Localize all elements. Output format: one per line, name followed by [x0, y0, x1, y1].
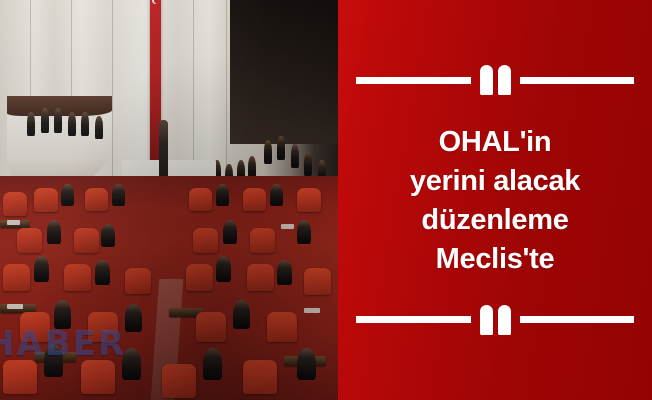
deputy-figure [34, 256, 49, 282]
seat [196, 312, 226, 342]
deputy-figure [264, 140, 272, 164]
seat [247, 264, 274, 291]
deputy-figure [277, 260, 292, 285]
seat [250, 228, 275, 253]
deputy-figure [125, 304, 142, 332]
deputy-figure [41, 108, 49, 133]
seat [81, 360, 115, 394]
parliament-photo: HABER [0, 0, 338, 400]
quote-decoration-top [356, 63, 634, 97]
seat [64, 264, 91, 291]
deputy-figure [216, 256, 231, 282]
seat [193, 228, 218, 253]
seat [297, 188, 321, 212]
deputy-figure [203, 348, 222, 380]
quote-open-icon [480, 65, 511, 95]
deputy-figure [68, 112, 76, 136]
headline-line-2: yerini alacak [362, 162, 628, 201]
headline-line-4: Meclis'te [362, 240, 628, 279]
deputy-figure [81, 112, 89, 136]
seat [17, 228, 42, 253]
quote-panel: OHAL'in yerini alacak düzenleme Meclis't… [338, 0, 652, 400]
deputy-figure [233, 300, 250, 329]
speaker-figure [159, 120, 168, 184]
decoration-rule-right [520, 316, 635, 323]
deputy-figure [27, 112, 35, 136]
deputy-figure [297, 220, 311, 244]
seat [243, 188, 266, 211]
seat [3, 192, 27, 216]
seat [162, 364, 196, 398]
seat [125, 268, 151, 294]
decoration-rule-right [520, 77, 635, 84]
desk-paper [281, 224, 294, 229]
seat [186, 264, 213, 291]
deputy-figure [223, 220, 237, 244]
seat [3, 264, 30, 291]
deputy-figure [95, 116, 103, 139]
quote-open-icon [480, 305, 511, 335]
deputy-figure [304, 152, 312, 176]
decoration-rule-left [356, 77, 471, 84]
seat [304, 268, 331, 295]
desk-paper [304, 308, 320, 313]
news-quote-card: HABER OHAL'in yerini alacak düzenleme Me… [0, 0, 652, 400]
deputy-figure [47, 220, 61, 244]
deputy-figure [112, 184, 125, 206]
photo-watermark: HABER [0, 324, 126, 364]
decoration-rule-left [356, 316, 471, 323]
seat [85, 188, 108, 211]
seat [3, 360, 37, 394]
deputy-figure [61, 184, 74, 206]
deputy-figure [54, 108, 62, 133]
seat [243, 360, 277, 394]
seat [34, 188, 58, 212]
seat [189, 188, 212, 211]
deputy-figure [95, 260, 110, 285]
deputy-figure [216, 184, 229, 206]
deputy-figure [270, 184, 283, 206]
desk-paper [7, 220, 20, 225]
seat [74, 228, 99, 253]
quote-decoration-bottom [356, 303, 634, 337]
deputy-figure [101, 224, 115, 247]
crescent-star-icon [152, 0, 159, 4]
headline: OHAL'in yerini alacak düzenleme Meclis't… [362, 123, 628, 278]
deputy-figure [277, 136, 285, 160]
seat [267, 312, 297, 342]
deputy-figure [291, 144, 299, 168]
desk-paper [7, 304, 23, 309]
headline-line-1: OHAL'in [362, 123, 628, 162]
upper-gallery-shadow [230, 0, 338, 144]
headline-line-3: düzenleme [362, 201, 628, 240]
deputy-figure [297, 348, 316, 380]
